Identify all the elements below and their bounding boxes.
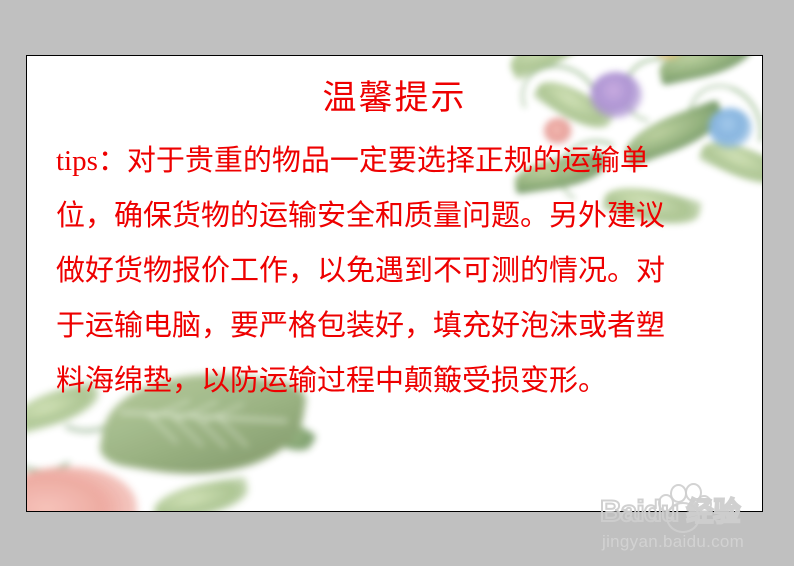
leaf-icon [151,476,251,511]
notice-card: 温馨提示 tips：对于贵重的物品一定要选择正规的运输单 位，确保货物的运输安全… [26,55,763,512]
flower-icon [654,56,684,60]
leaf-vein [218,417,249,448]
leaf-vein [145,411,178,444]
leaf-icon [579,56,671,59]
leaf-vein [194,415,228,449]
notice-line: tips：对于贵重的物品一定要选择正规的运输单 [56,134,742,189]
notice-line: 做好货物报价工作，以免遇到不可测的情况。对 [56,244,742,299]
leaf-icon [503,56,601,81]
notice-line: 料海绵垫，以防运输过程中颠簸受损变形。 [56,354,742,409]
notice-title: 温馨提示 [27,79,762,119]
notice-line: 于运输电脑，要严格包装好，填充好泡沫或者塑 [56,299,742,354]
page-canvas: 温馨提示 tips：对于贵重的物品一定要选择正规的运输单 位，确保货物的运输安全… [0,0,794,566]
notice-line: 位，确保货物的运输安全和质量问题。另外建议 [56,189,742,244]
leaf-vein [169,413,203,447]
watermark-url: jingyan.baidu.com [602,532,744,552]
leaf-midrib [120,411,288,423]
flower-petal-icon [27,467,137,511]
notice-body: tips：对于贵重的物品一定要选择正规的运输单 位，确保货物的运输安全和质量问题… [56,134,742,409]
